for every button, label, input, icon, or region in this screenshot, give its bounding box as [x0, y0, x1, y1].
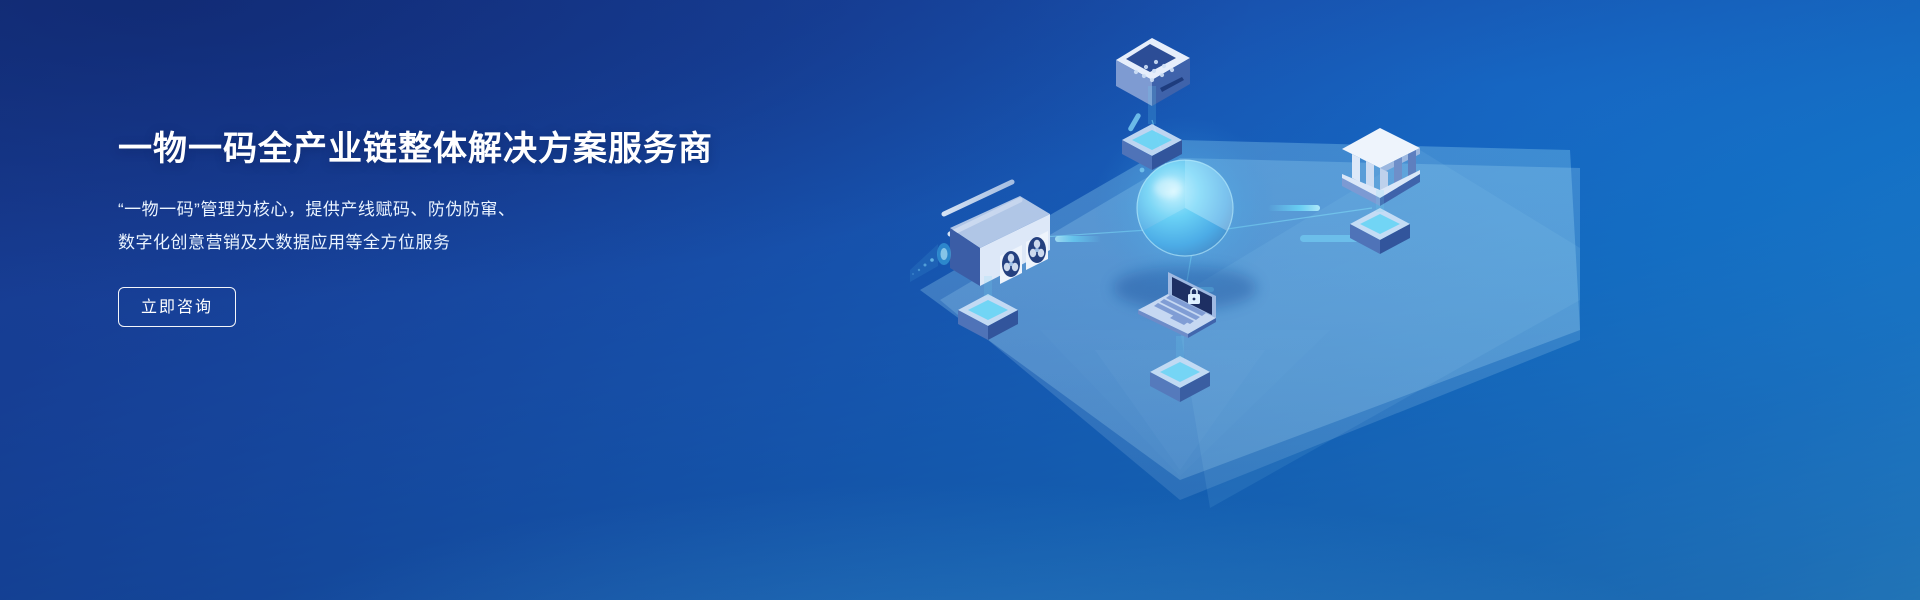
subtitle-line-2: 数字化创意营销及大数据应用等全方位服务 [118, 226, 678, 259]
sphere-highlight [1154, 178, 1182, 198]
subtitle-line-1: “一物一码”管理为核心，提供产线赋码、防伪防窜、 [118, 193, 678, 226]
hero-copy: 一物一码全产业链整体解决方案服务商 “一物一码”管理为核心，提供产线赋码、防伪防… [118, 128, 818, 327]
page-title: 一物一码全产业链整体解决方案服务商 [118, 128, 818, 171]
pos-connector-beam [1148, 86, 1156, 124]
pulse-left [1055, 236, 1101, 242]
consult-now-button[interactable]: 立即咨询 [118, 287, 236, 327]
hero-banner: 一物一码全产业链整体解决方案服务商 “一物一码”管理为核心，提供产线赋码、防伪防… [0, 0, 1920, 600]
institution-connector-beam [1376, 190, 1384, 212]
hero-illustration [880, 0, 1580, 600]
server-connector-beam [984, 276, 992, 296]
hero-subtitle: “一物一码”管理为核心，提供产线赋码、防伪防窜、 数字化创意营销及大数据应用等全… [118, 193, 678, 259]
node-pos-terminal [1116, 38, 1190, 170]
